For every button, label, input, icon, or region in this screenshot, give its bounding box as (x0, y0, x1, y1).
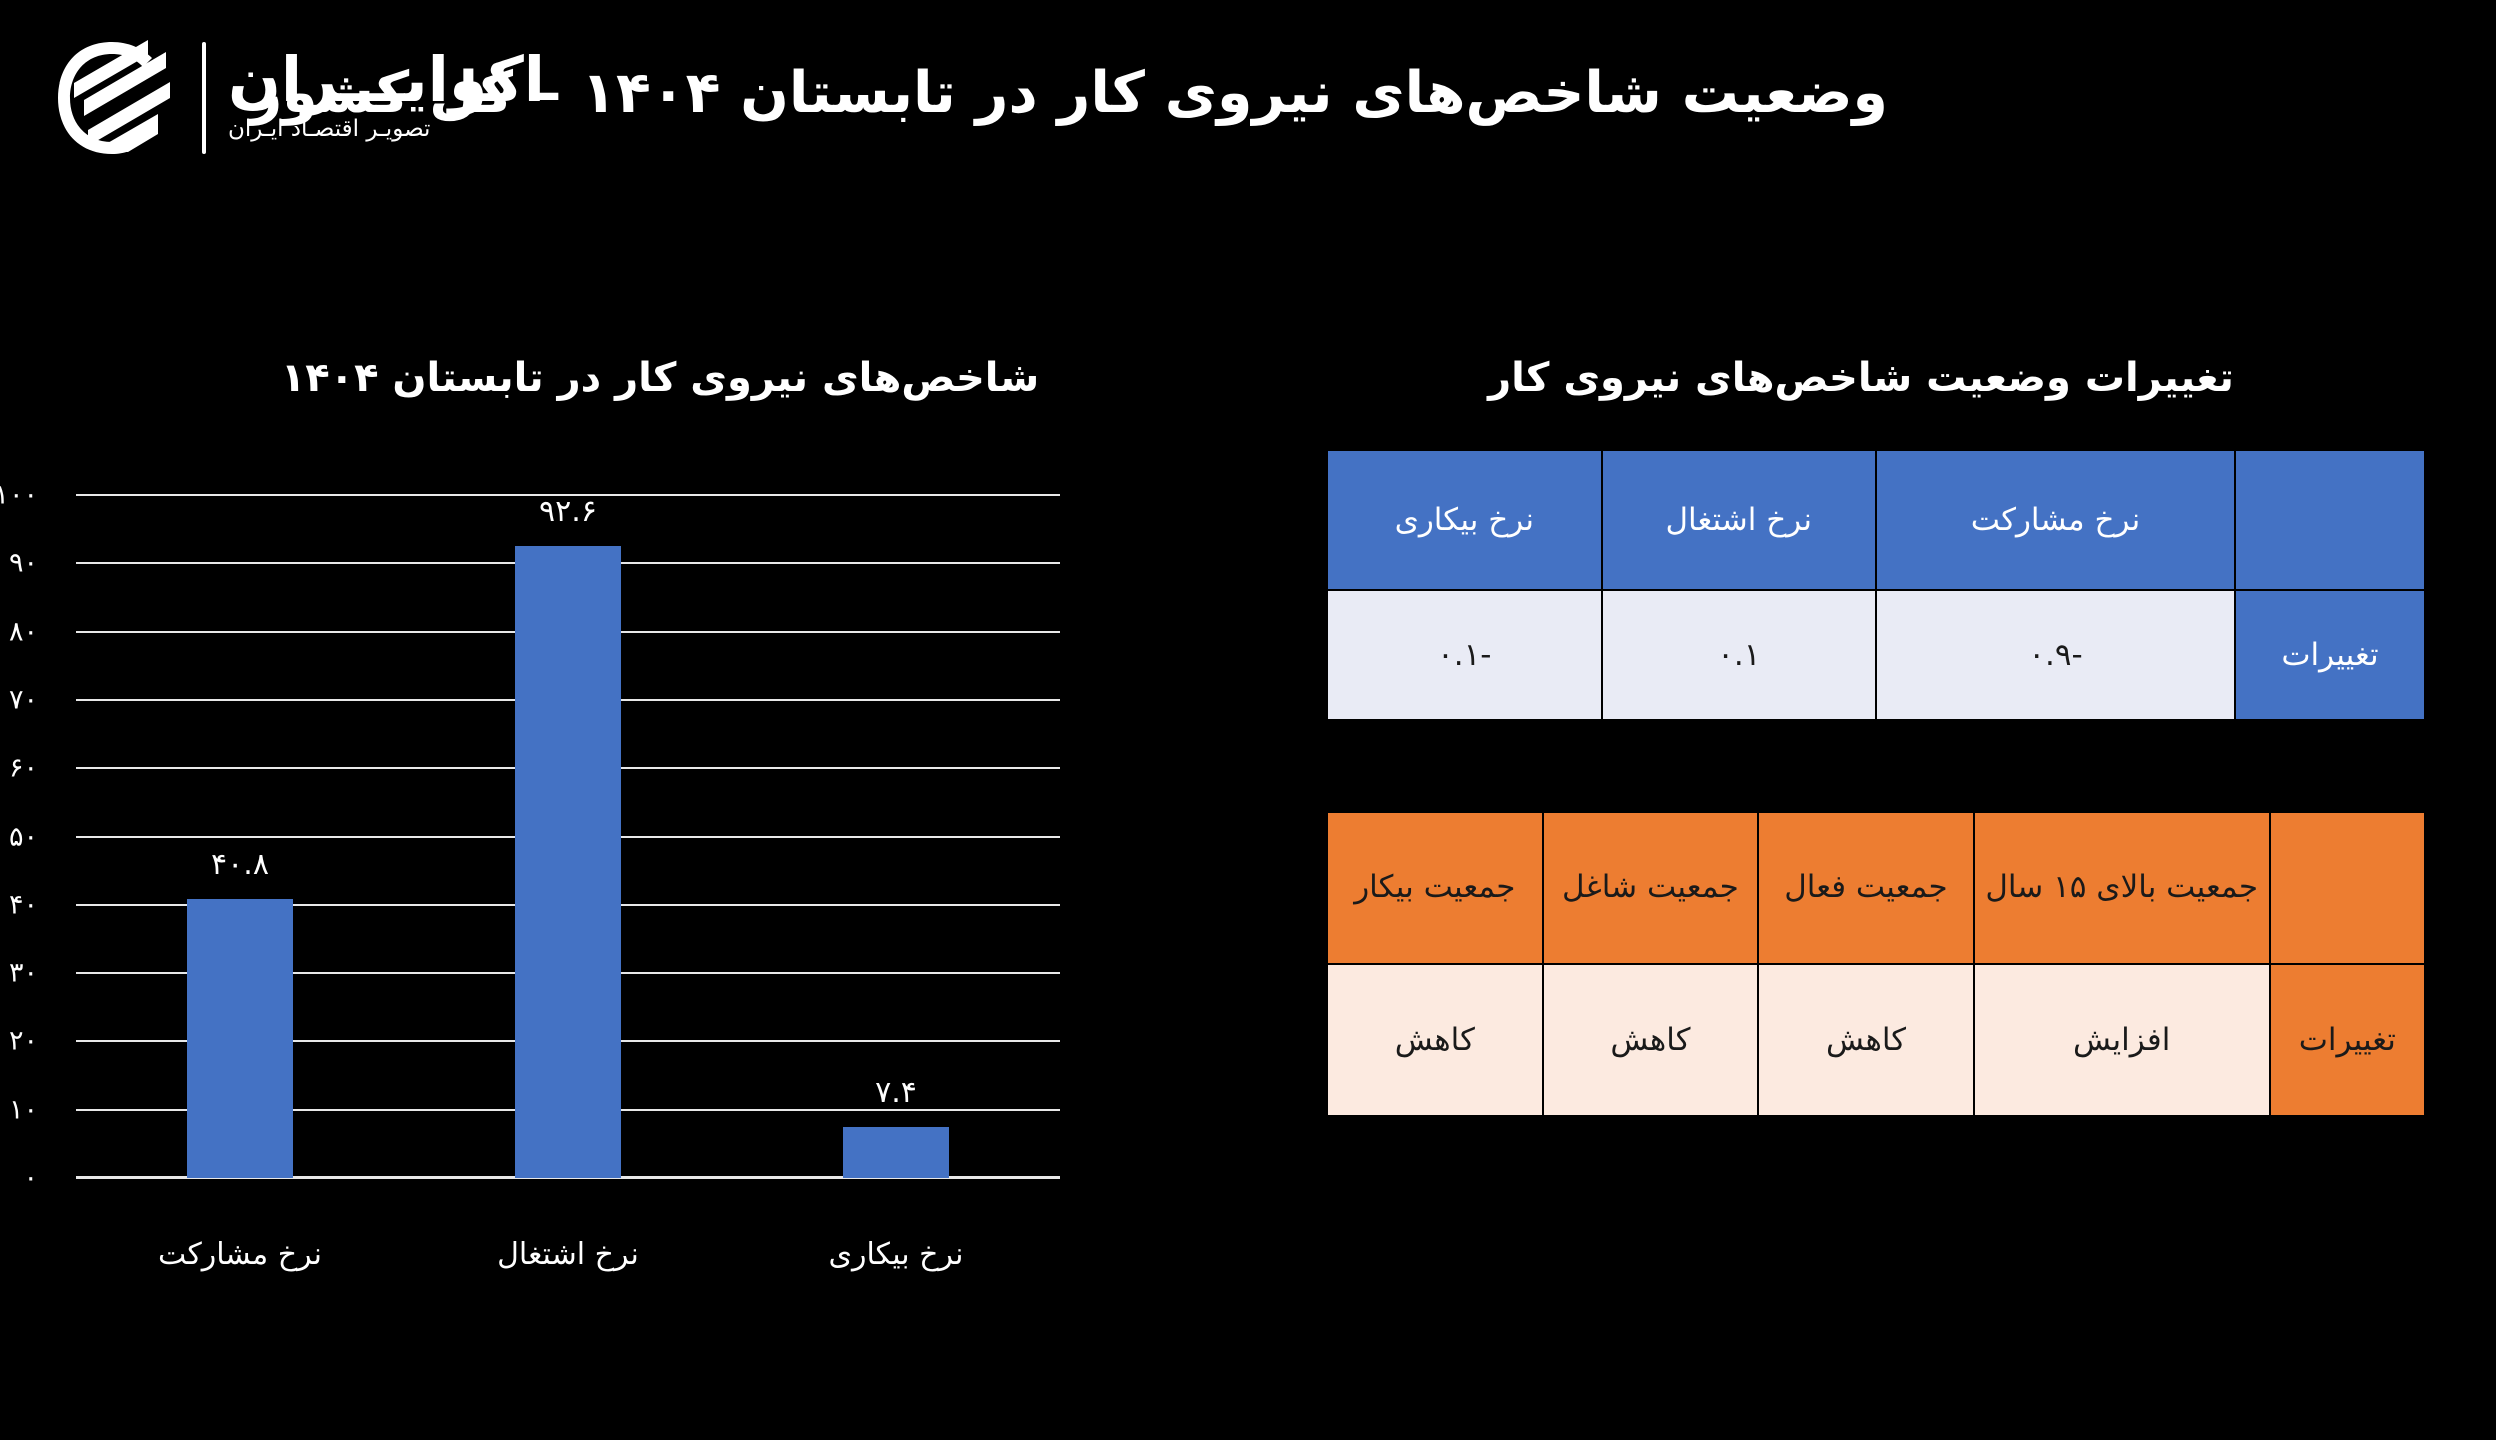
chart-y-tick-label: ۵۰ (0, 821, 52, 852)
labor-indicators-chart: شاخص‌های نیروی کار در تابستان ۱۴۰۴ ۰۱۰۲۰… (40, 355, 1250, 1315)
eco-iran-swoosh-logo-icon (48, 38, 180, 158)
population-header-active: جمعیت فعال (1758, 812, 1974, 964)
population-value-employed: کاهش (1543, 964, 1759, 1116)
chart-bar[interactable] (515, 546, 621, 1178)
infographic-canvas: وضعیت شاخص‌های نیروی کار در تابستان ۱۴۰۴… (0, 0, 2496, 1440)
population-row-label: تغییرات (2270, 964, 2425, 1116)
chart-y-tick-label: ۱۰ (0, 1094, 52, 1125)
brand-name: اکوایـــران (228, 49, 545, 111)
rates-header-blank (2235, 450, 2425, 590)
changes-panel-heading: تغییرات وضعیت شاخص‌های نیروی کار (1296, 355, 2456, 401)
population-header-over15: جمعیت بالای ۱۵ سال (1974, 812, 2270, 964)
population-value-over15: افزایش (1974, 964, 2270, 1116)
population-value-unemployed: کاهش (1327, 964, 1543, 1116)
chart-bar-value-label: ۹۲.۶ (539, 494, 597, 529)
chart-bar-value-label: ۴۰.۸ (211, 847, 269, 882)
chart-y-tick-label: ۴۰ (0, 889, 52, 920)
chart-y-tick-label: ۷۰ (0, 684, 52, 715)
brand-block: اکوایـــران تصویـر اقتصـاد ایـران (48, 38, 549, 158)
brand-tagline: تصویـر اقتصـاد ایـران (228, 111, 430, 148)
chart-y-tick-label: ۰ (0, 1163, 52, 1194)
page-header: وضعیت شاخص‌های نیروی کار در تابستان ۱۴۰۴… (0, 0, 2496, 200)
rates-header-employment: نرخ اشتغال (1602, 450, 1877, 590)
population-value-active: کاهش (1758, 964, 1974, 1116)
chart-y-tick-label: ۹۰ (0, 548, 52, 579)
chart-plot-wrapper: ۰۱۰۲۰۳۰۴۰۵۰۶۰۷۰۸۰۹۰۱۰۰۴۰.۸نرخ مشارکت۹۲.۶… (40, 475, 1250, 1315)
rates-value-participation: -۰.۹ (1876, 590, 2235, 720)
table-row: تغییرات -۰.۹ ۰.۱ -۰.۱ (1327, 590, 2425, 720)
table-row: تغییرات افزایش کاهش کاهش کاهش (1327, 964, 2425, 1116)
population-header-blank (2270, 812, 2425, 964)
chart-y-tick-label: ۸۰ (0, 616, 52, 647)
rates-row-label: تغییرات (2235, 590, 2425, 720)
chart-x-tick-label: نرخ اشتغال (497, 1237, 639, 1272)
chart-bar-value-label: ۷.۴ (875, 1075, 917, 1110)
table-header-row: جمعیت بالای ۱۵ سال جمعیت فعال جمعیت شاغل… (1327, 812, 2425, 964)
brand-divider (202, 42, 206, 154)
rates-header-unemployment: نرخ بیکاری (1327, 450, 1602, 590)
chart-y-tick-label: ۲۰ (0, 1026, 52, 1057)
rates-value-employment: ۰.۱ (1602, 590, 1877, 720)
population-header-unemployed: جمعیت بیکار (1327, 812, 1543, 964)
chart-x-tick-label: نرخ بیکاری (829, 1237, 964, 1272)
table-header-row: نرخ مشارکت نرخ اشتغال نرخ بیکاری (1327, 450, 2425, 590)
chart-bar[interactable] (187, 899, 293, 1178)
changes-panel: تغییرات وضعیت شاخص‌های نیروی کار نرخ مشا… (1296, 355, 2456, 1117)
chart-title: شاخص‌های نیروی کار در تابستان ۱۴۰۴ (40, 355, 1250, 401)
rates-header-participation: نرخ مشارکت (1876, 450, 2235, 590)
rates-table: نرخ مشارکت نرخ اشتغال نرخ بیکاری تغییرات… (1326, 449, 2426, 721)
population-table: جمعیت بالای ۱۵ سال جمعیت فعال جمعیت شاغل… (1326, 811, 2426, 1117)
chart-bar[interactable] (843, 1127, 949, 1178)
population-header-employed: جمعیت شاغل (1543, 812, 1759, 964)
chart-x-tick-label: نرخ مشارکت (158, 1237, 322, 1272)
chart-plot-area: ۰۱۰۲۰۳۰۴۰۵۰۶۰۷۰۸۰۹۰۱۰۰۴۰.۸نرخ مشارکت۹۲.۶… (76, 495, 1060, 1178)
rates-value-unemployment: -۰.۱ (1327, 590, 1602, 720)
chart-y-tick-label: ۶۰ (0, 753, 52, 784)
chart-y-tick-label: ۳۰ (0, 958, 52, 989)
chart-y-tick-label: ۱۰۰ (0, 480, 52, 511)
brand-wordmark: اکوایـــران تصویـر اقتصـاد ایـران (228, 49, 549, 148)
